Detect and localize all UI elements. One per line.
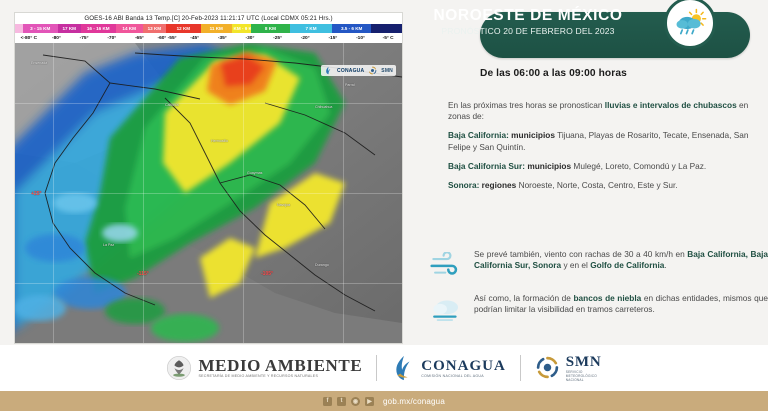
temp-tick: -5° C (374, 36, 402, 41)
colorbar-label: 7 KM (290, 24, 333, 33)
social-bar: f t ◉ ▶ gob.mx/conagua (0, 391, 768, 411)
instagram-icon[interactable]: ◉ (351, 397, 360, 406)
forecast-body: En las próximas tres horas se pronostica… (448, 100, 760, 199)
place-label: Caborca (165, 103, 179, 107)
colorbar-label: 8 KM (251, 24, 290, 33)
conagua-title: CONAGUA (421, 358, 506, 374)
temp-tick: -45° (181, 36, 209, 41)
wind-advisory: Se prevé también, viento con rachas de 3… (426, 248, 768, 282)
satellite-title: GOES-16 ABI Banda 13 Temp.[C] 20-Feb-202… (15, 13, 402, 24)
longitude-label: -115° (137, 271, 149, 277)
conagua-logo: CONAGUA COMISIÓN NACIONAL DEL AGUA (391, 355, 506, 381)
fog-text-a: Así como, la formación de (474, 293, 573, 303)
medio-ambiente-title: MEDIO AMBIENTE (198, 357, 362, 374)
satellite-cloud-map (15, 43, 402, 344)
region-state: Baja California Sur: (448, 161, 525, 171)
region-kind: municipios (511, 130, 555, 140)
wind-icon-wrap (426, 248, 468, 282)
wind-text-c: y en el (561, 260, 590, 270)
place-label: Navojoa (277, 203, 290, 207)
colorbar-label: 14 KM (116, 24, 143, 33)
region-state: Baja California: (448, 130, 509, 140)
conagua-overlay-label: CONAGUA (337, 68, 364, 74)
fog-icon-wrap (426, 292, 468, 326)
wind-icon (430, 252, 464, 278)
footer-divider (376, 355, 377, 381)
temp-tick: -30° (236, 36, 264, 41)
longitude-label: -105° (261, 271, 273, 277)
region-kind: municipios (527, 161, 571, 171)
colorbar-label: 17 KM (58, 24, 81, 33)
page-subtitle: PRONÓSTICO 20 DE FEBRERO DEL 2023 (432, 26, 624, 36)
sun-behind-rain-cloud-icon (673, 6, 707, 40)
intro-highlight: lluvias e intervalos de chubascos (605, 100, 737, 110)
temp-tick: <-80° C (15, 36, 43, 41)
region-list: Mulegé, Loreto, Comondú y La Paz. (571, 161, 706, 171)
satellite-temperature-scale: <-80° C -80° -75° -70° -65° -60° -55° -4… (15, 33, 402, 43)
conagua-leaf-icon (391, 355, 415, 381)
fog-icon (430, 296, 464, 322)
footer-divider (520, 355, 521, 381)
place-label: Durango (315, 263, 329, 267)
colorbar-label: 16 - 16 KM (81, 24, 116, 33)
website-url[interactable]: gob.mx/conagua (383, 397, 445, 406)
forecast-content: NOROESTE DE MÉXICO PRONÓSTICO 20 DE FEBR… (418, 0, 768, 345)
fog-advisory: Así como, la formación de bancos de nieb… (426, 292, 768, 326)
colorbar-label: 10 KM - 9 KM (232, 24, 251, 33)
forecast-intro: En las próximas tres horas se pronostica… (448, 100, 760, 122)
place-label: La Paz (103, 243, 114, 247)
smn-overlay-label: SMN (381, 68, 393, 74)
colorbar-label: 12 KM (166, 24, 201, 33)
temp-tick: -65° (126, 36, 154, 41)
mexico-eagle-emblem-icon (166, 355, 192, 381)
facebook-icon[interactable]: f (323, 397, 332, 406)
colorbar-label: 3.5 - 6 KM (332, 24, 371, 33)
region-kind: regiones (482, 180, 517, 190)
place-label: Parral (345, 83, 355, 87)
satellite-overlay-logos: CONAGUA SMN (321, 65, 396, 76)
fog-highlight: bancos de niebla (573, 293, 641, 303)
region-row: Sonora: regiones Noroeste, Norte, Costa,… (448, 180, 760, 191)
place-label: Ensenada (31, 61, 47, 65)
time-range-heading: De las 06:00 a las 09:00 horas (480, 68, 768, 79)
wind-text-a: Se prevé también, viento con rachas de 3… (474, 249, 687, 259)
region-list: Noroeste, Norte, Costa, Centro, Este y S… (516, 180, 677, 190)
wind-text-d: . (664, 260, 666, 270)
place-label: Hermosillo (211, 139, 228, 143)
fog-advisory-text: Así como, la formación de bancos de nieb… (474, 292, 768, 315)
temp-tick: -70° (98, 36, 126, 41)
temp-tick: -15° (319, 36, 347, 41)
colorbar-label: 3 - 15 KM (23, 24, 58, 33)
wind-gulf: Golfo de California (590, 260, 664, 270)
wind-advisory-text: Se prevé también, viento con rachas de 3… (474, 248, 768, 271)
smn-title: SMN (566, 354, 602, 370)
page-title: NOROESTE DE MÉXICO (432, 7, 624, 25)
satellite-imagery: +25° -115° -105° Ensenada Caborca Hermos… (15, 43, 402, 344)
youtube-icon[interactable]: ▶ (365, 397, 374, 406)
temp-tick: -25° (264, 36, 292, 41)
latitude-label: +25° (31, 191, 41, 197)
temp-tick: -10° (347, 36, 375, 41)
satellite-colorbar: 3 - 15 KM 17 KM 16 - 16 KM 14 KM 13 KM 1… (15, 24, 402, 33)
smn-logo: SMN SERVICIO METEOROLÓGICO NACIONAL (535, 354, 602, 383)
region-state: Sonora: (448, 180, 479, 190)
smn-swirl-icon (535, 355, 560, 380)
infographic-canvas: GOES-16 ABI Banda 13 Temp.[C] 20-Feb-202… (0, 0, 768, 411)
smn-swirl-icon (368, 66, 377, 75)
place-label: Chihuahua (315, 105, 332, 109)
medio-ambiente-logo: MEDIO AMBIENTE SECRETARÍA DE MEDIO AMBIE… (166, 355, 362, 381)
twitter-icon[interactable]: t (337, 397, 346, 406)
colorbar-label: 11 KM (201, 24, 232, 33)
region-row: Baja California Sur: municipios Mulegé, … (448, 161, 760, 172)
intro-text-a: En las próximas tres horas se pronostica… (448, 100, 605, 110)
temp-tick: -35° (208, 36, 236, 41)
temp-tick: -75° (70, 36, 98, 41)
place-label: Guaymas (247, 171, 262, 175)
colorbar-label: 13 KM (143, 24, 166, 33)
smn-subtitle-3: NACIONAL (566, 378, 602, 382)
conagua-subtitle: COMISIÓN NACIONAL DEL AGUA (421, 374, 506, 379)
conagua-leaf-icon (324, 66, 333, 75)
temp-tick: -80° (43, 36, 71, 41)
region-row: Baja California: municipios Tijuana, Pla… (448, 130, 760, 152)
temp-tick: -20° (291, 36, 319, 41)
footer-logos: MEDIO AMBIENTE SECRETARÍA DE MEDIO AMBIE… (0, 345, 768, 391)
temp-tick: -60° -55° (153, 36, 181, 41)
satellite-image-panel: GOES-16 ABI Banda 13 Temp.[C] 20-Feb-202… (14, 12, 403, 344)
